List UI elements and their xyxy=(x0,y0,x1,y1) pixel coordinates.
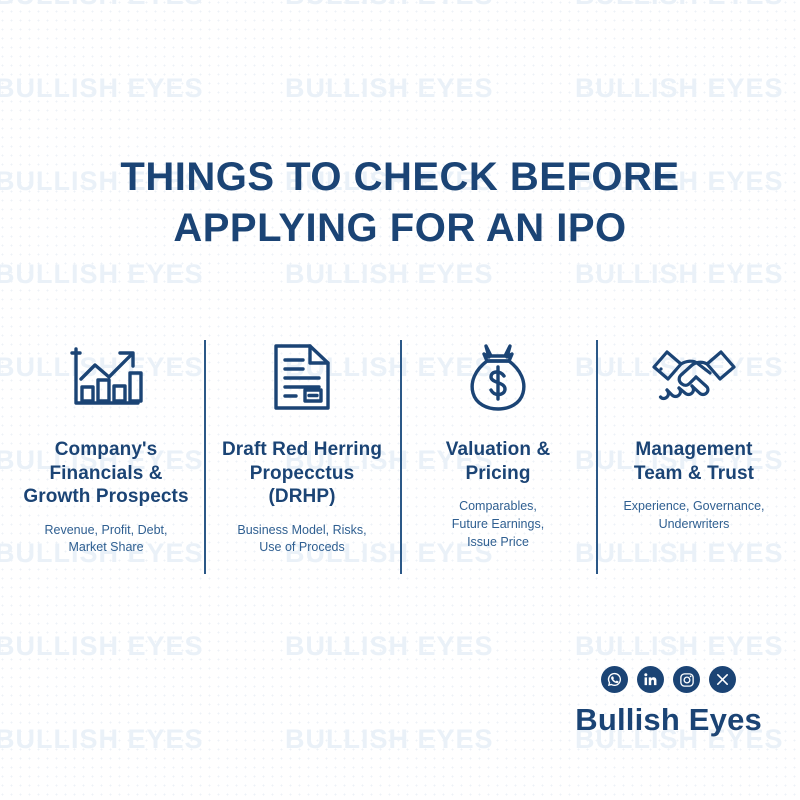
column-drhp: Draft Red Herring Propecctus (DRHP) Busi… xyxy=(204,338,400,576)
money-bag-icon xyxy=(410,338,586,416)
column-title-line-1: Draft Red Herring xyxy=(214,438,390,462)
column-sub-line-2: Underwriters xyxy=(606,516,782,534)
whatsapp-icon[interactable] xyxy=(601,666,628,693)
column-title-line-2: Financials & xyxy=(18,462,194,486)
document-icon xyxy=(214,338,390,416)
column-title-line-3: (DRHP) xyxy=(214,485,390,509)
instagram-icon[interactable] xyxy=(673,666,700,693)
column-sub-line-3: Issue Price xyxy=(410,534,586,552)
column-title-line-1: Company's xyxy=(18,438,194,462)
column-subtitle: Comparables, Future Earnings, Issue Pric… xyxy=(410,498,586,551)
social-links xyxy=(575,666,762,693)
brand-wordmark: Bullish Eyes xyxy=(575,702,762,738)
column-sub-line-1: Revenue, Profit, Debt, xyxy=(18,522,194,540)
bar-chart-growth-icon xyxy=(18,338,194,416)
column-sub-line-2: Use of Proceds xyxy=(214,539,390,557)
column-title-line-1: Valuation & xyxy=(410,438,586,462)
column-title: Draft Red Herring Propecctus (DRHP) xyxy=(214,438,390,509)
checklist-columns: Company's Financials & Growth Prospects … xyxy=(8,338,792,576)
column-title-line-2: Pricing xyxy=(410,462,586,486)
handshake-icon xyxy=(606,338,782,416)
column-title: Valuation & Pricing xyxy=(410,438,586,485)
column-management-team: Management Team & Trust Experience, Gove… xyxy=(596,338,792,576)
column-subtitle: Experience, Governance, Underwriters xyxy=(606,498,782,534)
infographic-page: THINGS TO CHECK BEFORE APPLYING FOR AN I… xyxy=(0,0,800,800)
column-valuation-pricing: Valuation & Pricing Comparables, Future … xyxy=(400,338,596,576)
column-title: Management Team & Trust xyxy=(606,438,782,485)
column-title-line-2: Propecctus xyxy=(214,462,390,486)
column-sub-line-2: Future Earnings, xyxy=(410,516,586,534)
column-sub-line-1: Comparables, xyxy=(410,498,586,516)
column-sub-line-1: Experience, Governance, xyxy=(606,498,782,516)
column-title-line-1: Management xyxy=(606,438,782,462)
column-title-line-3: Growth Prospects xyxy=(18,485,194,509)
page-title: THINGS TO CHECK BEFORE APPLYING FOR AN I… xyxy=(60,152,740,254)
footer-branding: Bullish Eyes xyxy=(575,666,762,738)
title-line-1: THINGS TO CHECK BEFORE xyxy=(60,152,740,203)
column-subtitle: Business Model, Risks, Use of Proceds xyxy=(214,522,390,558)
x-twitter-icon[interactable] xyxy=(709,666,736,693)
column-subtitle: Revenue, Profit, Debt, Market Share xyxy=(18,522,194,558)
title-line-2: APPLYING FOR AN IPO xyxy=(60,203,740,254)
column-sub-line-1: Business Model, Risks, xyxy=(214,522,390,540)
column-sub-line-2: Market Share xyxy=(18,539,194,557)
linkedin-icon[interactable] xyxy=(637,666,664,693)
column-title-line-2: Team & Trust xyxy=(606,462,782,486)
column-company-financials: Company's Financials & Growth Prospects … xyxy=(8,338,204,576)
column-title: Company's Financials & Growth Prospects xyxy=(18,438,194,509)
